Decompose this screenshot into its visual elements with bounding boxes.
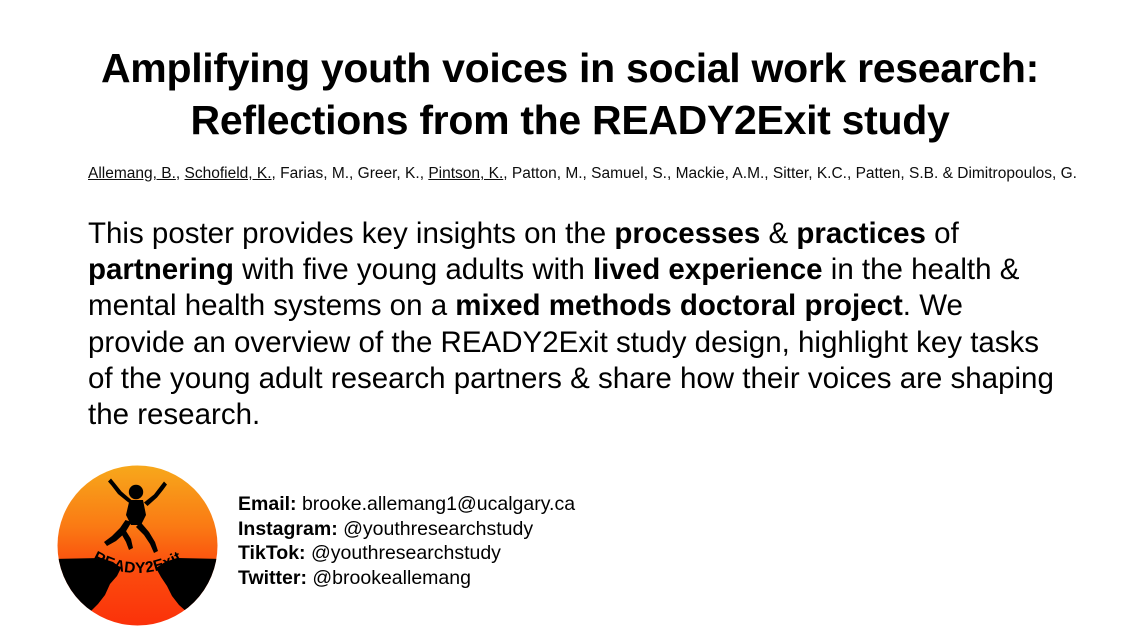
- body-run: This poster provides key insights on the: [88, 217, 614, 250]
- contact-block: Email: brooke.allemang1@ucalgary.caInsta…: [238, 492, 575, 590]
- author-name-underlined: Allemang, B.: [88, 165, 176, 182]
- contact-label: Twitter:: [238, 567, 307, 589]
- contact-label: Instagram:: [238, 518, 338, 540]
- contact-value[interactable]: @brookeallemang: [307, 567, 471, 589]
- body-run: &: [760, 217, 796, 250]
- author-name-underlined: Schofield, K.: [185, 165, 272, 182]
- contact-row: Twitter: @brookeallemang: [238, 566, 575, 591]
- author-names: , Patton, M., Samuel, S., Mackie, A.M., …: [503, 165, 1077, 182]
- poster-slide: Amplifying youth voices in social work r…: [0, 0, 1140, 641]
- contact-value[interactable]: @youthresearchstudy: [338, 518, 533, 540]
- emphasized-phrase: partnering: [88, 253, 234, 286]
- title-line-1: Amplifying youth voices in social work r…: [70, 42, 1070, 94]
- contact-label: Email:: [238, 493, 297, 515]
- contact-row: TikTok: @youthresearchstudy: [238, 541, 575, 566]
- emphasized-phrase: processes: [614, 217, 760, 250]
- contact-value[interactable]: @youthresearchstudy: [306, 542, 501, 564]
- contact-label: TikTok:: [238, 542, 306, 564]
- emphasized-phrase: practices: [796, 217, 926, 250]
- ready2exit-logo: READY2Exit: [55, 463, 220, 628]
- abstract-paragraph: This poster provides key insights on the…: [88, 216, 1063, 433]
- body-run: with five young adults with: [234, 253, 593, 286]
- contact-value[interactable]: brooke.allemang1@ucalgary.ca: [297, 493, 576, 515]
- author-name-underlined: Pintson, K.: [428, 165, 503, 182]
- page-title: Amplifying youth voices in social work r…: [70, 42, 1070, 146]
- author-list: Allemang, B., Schofield, K., Farias, M.,…: [88, 164, 1068, 184]
- title-line-2: Reflections from the READY2Exit study: [70, 94, 1070, 146]
- contact-row: Instagram: @youthresearchstudy: [238, 517, 575, 542]
- body-run: of: [926, 217, 959, 250]
- emphasized-phrase: mixed methods doctoral project: [455, 289, 903, 322]
- author-names: ,: [176, 165, 185, 182]
- emphasized-phrase: lived experience: [593, 253, 823, 286]
- author-names: , Farias, M., Greer, K.,: [272, 165, 429, 182]
- contact-row: Email: brooke.allemang1@ucalgary.ca: [238, 492, 575, 517]
